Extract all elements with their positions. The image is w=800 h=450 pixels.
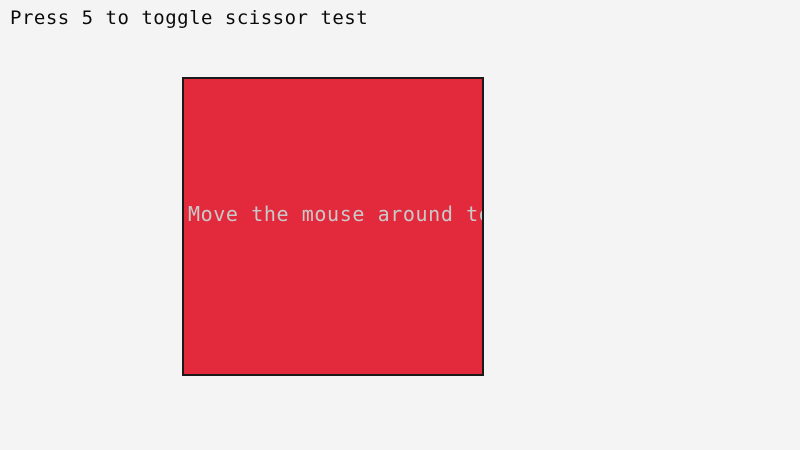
- scissor-test-rectangle[interactable]: Move the mouse around to reveal: [182, 77, 484, 376]
- clipped-message-text: Move the mouse around to reveal: [188, 202, 484, 226]
- scissor-toggle-hint-text: Press 5 to toggle scissor test: [10, 6, 368, 30]
- app-canvas: Press 5 to toggle scissor test Move the …: [0, 0, 800, 450]
